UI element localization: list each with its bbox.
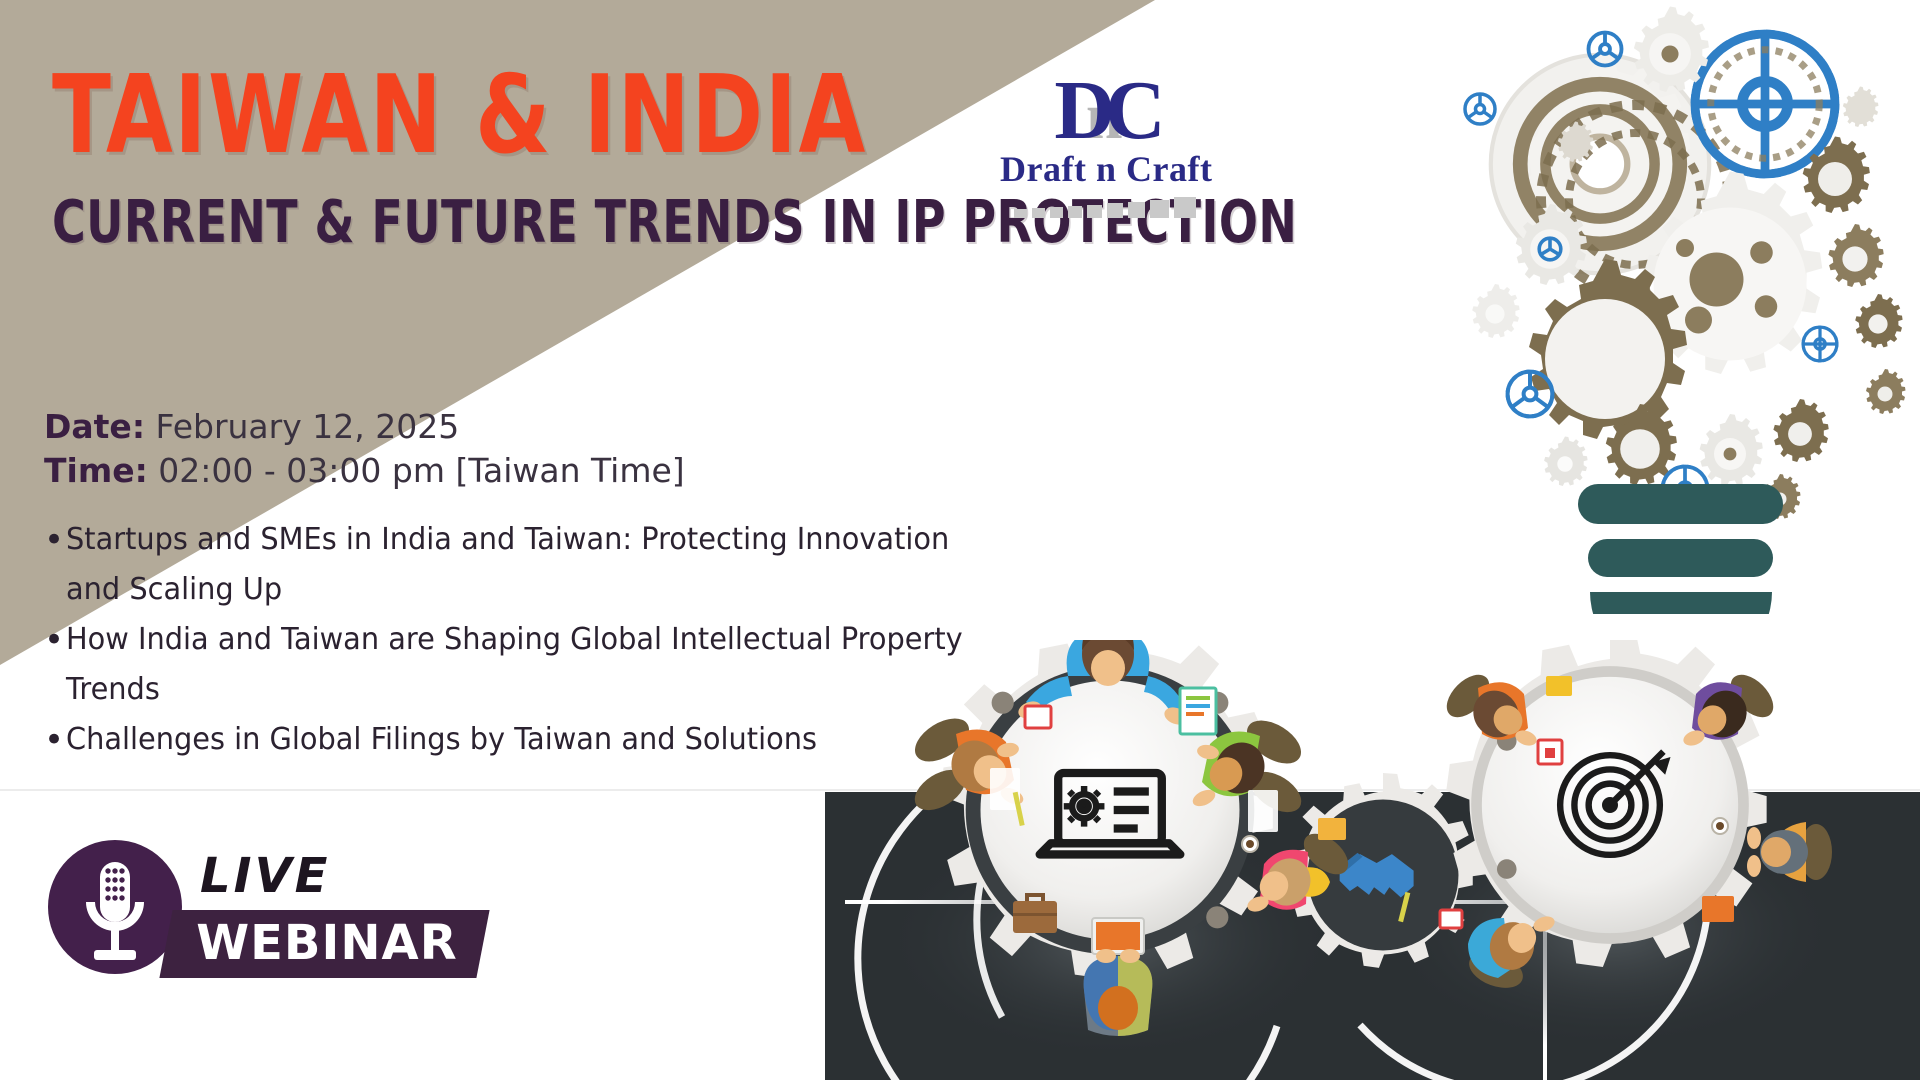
topic-list: •Startups and SMEs in India and Taiwan: … [44,515,1004,765]
microphone-icon [48,840,182,974]
logo-bars-decoration [1000,197,1210,218]
logo-bar [1050,207,1063,218]
time-value: 02:00 - 03:00 pm [Taiwan Time] [158,451,684,490]
webinar-poster: TAIWAN & INDIA CURRENT & FUTURE TRENDS I… [0,0,1920,1080]
logo-bar [1150,200,1169,218]
bottom-dark-panel [825,792,1920,1080]
time-label: Time: [44,451,148,490]
topic-bullet: •Challenges in Global Filings by Taiwan … [44,715,1004,765]
panel-decor-line [845,900,1565,904]
topic-bullet-text: Startups and SMEs in India and Taiwan: P… [66,515,966,615]
logo-bar [1032,208,1045,218]
logo-bar [1107,203,1123,218]
headline-block: TAIWAN & INDIA CURRENT & FUTURE TRENDS I… [52,62,1649,251]
logo-bar [1068,206,1082,218]
badge-live-label: LIVE [200,848,330,904]
logo-bar [1014,209,1027,218]
badge-webinar-label: WEBINAR [196,915,457,971]
date-label: Date: [44,407,145,446]
logo-bar [1087,205,1102,218]
date-value: February 12, 2025 [156,407,460,446]
logo-bar [1174,197,1196,218]
topic-bullet-text: How India and Taiwan are Shaping Global … [66,615,966,715]
section-divider [0,789,1920,791]
logo-monogram-dc: DC [1054,64,1155,157]
lightbulb-base [1578,484,1783,614]
draft-n-craft-logo[interactable]: n DC Draft n Craft [1000,70,1210,218]
live-webinar-badge: LIVE WEBINAR [48,838,468,978]
event-date-row: Date: February 12, 2025 [44,405,685,449]
logo-bar [1128,202,1145,218]
bullet-dot-icon: • [44,715,66,765]
bullet-dot-icon: • [44,615,66,665]
event-details: Date: February 12, 2025 Time: 02:00 - 03… [44,405,685,493]
topic-bullet-text: Challenges in Global Filings by Taiwan a… [66,715,817,765]
badge-webinar-banner: WEBINAR [159,910,490,978]
event-time-row: Time: 02:00 - 03:00 pm [Taiwan Time] [44,449,685,493]
topic-bullet: •How India and Taiwan are Shaping Global… [44,615,1004,715]
topic-bullet: •Startups and SMEs in India and Taiwan: … [44,515,1004,615]
logo-monogram: n DC [1000,70,1210,152]
panel-decor-corner [1543,900,1703,1080]
bullet-dot-icon: • [44,515,66,565]
